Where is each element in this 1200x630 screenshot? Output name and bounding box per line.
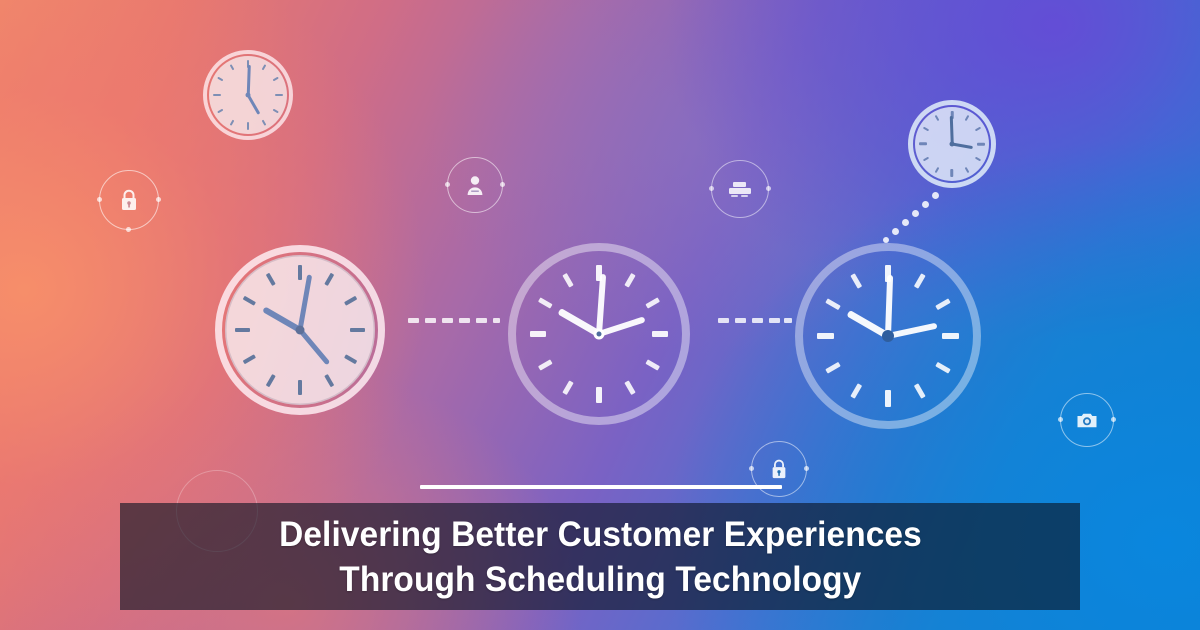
- title-banner: Delivering Better Customer Experiences T…: [120, 503, 1080, 610]
- badge-ring-dot: [804, 466, 809, 471]
- clock-center-cap: [296, 326, 305, 335]
- badge-ring-dot: [1058, 417, 1063, 422]
- badge-ring-dot: [500, 182, 505, 187]
- badge-ring-dot: [709, 186, 714, 191]
- small-clock-top-left: [203, 50, 293, 140]
- promo-graphic: Delivering Better Customer Experiences T…: [0, 0, 1200, 630]
- page-title-line-2: Through Scheduling Technology: [339, 557, 861, 602]
- main-clock-left: [215, 245, 385, 415]
- title-divider-rule: [420, 485, 782, 489]
- user-icon: [465, 174, 485, 196]
- badge-camera-bottom-right: [1060, 393, 1114, 447]
- badge-ring-dot: [445, 182, 450, 187]
- dashed-connector-left-to-center: [408, 318, 496, 323]
- badge-ring-dot: [766, 186, 771, 191]
- badge-ring-dot: [97, 197, 102, 202]
- badge-ring-dot: [126, 227, 131, 232]
- badge-ring-dot: [1111, 417, 1116, 422]
- badge-lock-left: [99, 170, 159, 230]
- dashed-connector-center-to-right: [718, 318, 792, 323]
- small-clock-top-right: [908, 100, 996, 188]
- badge-user-center: [447, 157, 503, 213]
- clock-center-cap: [882, 330, 894, 342]
- badge-ring-dot: [156, 197, 161, 202]
- lock-icon: [769, 458, 789, 480]
- clock-center-cap: [950, 142, 955, 147]
- badge-ring-dot: [749, 466, 754, 471]
- camera-icon: [1076, 411, 1098, 429]
- main-clock-right: [795, 243, 981, 429]
- clock-center-cap: [246, 93, 251, 98]
- lock-icon: [118, 188, 140, 212]
- badge-device-right: [711, 160, 769, 218]
- clock-center-pin: [597, 332, 602, 337]
- main-clock-center: [508, 243, 690, 425]
- page-title-line-1: Delivering Better Customer Experiences: [279, 512, 922, 557]
- device-icon: [727, 179, 753, 199]
